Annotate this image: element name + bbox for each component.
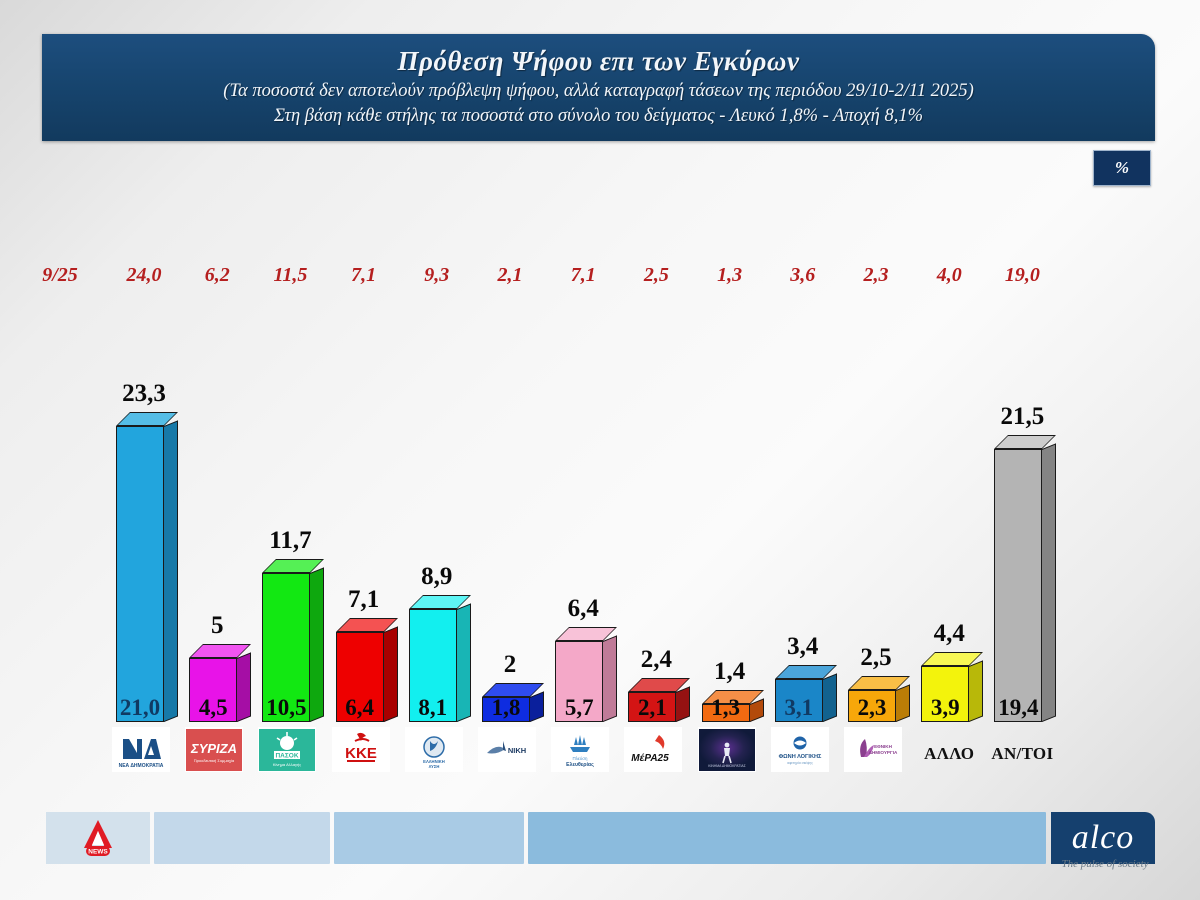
previous-value-elliniki: 9,3 [405,264,469,287]
svg-text:ΔΗΜΙΟΥΡΓΙΑ: ΔΗΜΙΟΥΡΓΙΑ [869,750,898,755]
bar-group-mera25[interactable]: 2,42,1 [620,612,692,722]
bar-side-face-elliniki [457,603,471,722]
bar-front-face-niki [482,697,530,722]
svg-text:ΕΘΝΙΚΗ: ΕΘΝΙΚΗ [874,744,893,749]
bar-front-face-pasok [262,573,310,722]
previous-value-pasok: 11,5 [258,264,322,287]
bar-3d-kke [336,632,384,722]
bar-3d-antoi [994,449,1042,722]
page-title: Πρόθεση Ψήφου επι των Εγκύρων [42,46,1155,77]
bar-front-face-antoi [994,449,1042,722]
bar-3d-niki [482,697,530,722]
bar-top-value-niki: 2 [474,651,546,679]
plefsi-eleftherias-logo-icon: Πλεύση Ελευθερίας [552,729,608,771]
bar-3d-kinima [702,704,750,722]
mera25-logo: ΜέΡΑ25 [624,727,682,772]
bar-front-face-nd [116,426,164,722]
bar-side-face-pasok [310,567,324,722]
percent-badge: % [1093,150,1151,186]
bar-front-face-ethniki [848,690,896,722]
bar-group-kke[interactable]: 7,16,4 [328,552,400,722]
bar-group-kinima[interactable]: 1,41,3 [694,624,766,722]
bar-top-value-antoi: 21,5 [986,403,1058,431]
chart-header: Πρόθεση Ψήφου επι των Εγκύρων (Τα ποσοστ… [42,34,1155,141]
bar-group-foni[interactable]: 3,43,1 [767,599,839,722]
bar-side-face-syriza [237,652,251,722]
bar-side-face-nd [164,420,178,722]
elliniki-lysi-logo-icon: ΕΛΛΗΝΙΚΗ ΛΥΣΗ [406,729,462,771]
foni-logikis-logo-icon: ΦΩΝΗ ΛΟΓΙΚΗΣ αφετηρία σκέψης [772,729,828,771]
previous-value-kke: 7,1 [332,264,396,287]
syriza-logo: ΣΥΡΙΖΑ Προοδευτική Συμμαχία [185,727,243,772]
bar-side-face-allo [969,660,983,722]
bar-top-value-elliniki: 8,9 [401,563,473,591]
svg-text:Ελευθερίας: Ελευθερίας [566,762,594,768]
svg-text:αφετηρία σκέψης: αφετηρία σκέψης [787,761,813,765]
bar-side-face-mera25 [676,686,690,722]
bar-front-face-syriza [189,658,237,722]
bar-3d-mera25 [628,692,676,722]
previous-value-ethniki: 2,3 [844,264,908,287]
previous-value-niki: 2,1 [478,264,542,287]
foni-logikis-logo: ΦΩΝΗ ΛΟΓΙΚΗΣ αφετηρία σκέψης [771,727,829,772]
bar-front-face-plefsi [555,641,603,722]
ethniki-dimiourgia-logo: ΕΘΝΙΚΗ ΔΗΜΙΟΥΡΓΙΑ [844,727,902,772]
bar-3d-plefsi [555,641,603,722]
previous-value-plefsi: 7,1 [551,264,615,287]
bar-top-value-kinima: 1,4 [694,658,766,686]
footer-strip-2 [334,812,524,864]
bar-top-value-mera25: 2,4 [620,646,692,674]
kke-logo-icon: ΚΚΕ [333,729,389,771]
bar-top-value-syriza: 5 [181,612,253,640]
kinima-dimokratias-logo-icon: ΚΙΝΗΜΑ ΔΗΜΟΚΡΑΤΙΑΣ [699,729,755,771]
svg-text:Πλεύση: Πλεύση [573,756,588,761]
bar-chart-plot: 23,321,0 ΝΕΑ ΔΗΜΟΚΡΑΤΙΑ54,5 ΣΥΡΙΖΑ Προοδ… [0,300,1200,780]
bar-group-antoi[interactable]: 21,519,4 [986,369,1058,722]
footer-bar: NEWS alco [0,812,1200,874]
alco-logo: alco [1051,812,1155,864]
bar-top-value-foni: 3,4 [767,633,839,661]
bar-3d-foni [775,679,823,722]
header-subtitle-line2: Στη βάση κάθε στήλης τα ποσοστά στο σύνο… [42,104,1155,129]
svg-text:ΦΩΝΗ ΛΟΓΙΚΗΣ: ΦΩΝΗ ΛΟΓΙΚΗΣ [778,754,821,760]
pasok-logo: ΠΑΣΟΚ Κίνημα Αλλαγής [258,727,316,772]
svg-text:ΝΕΑ ΔΗΜΟΚΡΑΤΙΑ: ΝΕΑ ΔΗΜΟΚΡΑΤΙΑ [119,763,164,769]
poll-chart-slide: Πρόθεση Ψήφου επι των Εγκύρων (Τα ποσοστ… [0,0,1200,900]
previous-poll-date: 9/25 [28,264,92,287]
previous-poll-row: 9/25 24,06,211,57,19,32,17,12,51,33,62,3… [0,264,1200,292]
bar-side-face-antoi [1042,443,1056,722]
alpha-news-icon: NEWS [76,818,120,858]
svg-text:ΚΙΝΗΜΑ ΔΗΜΟΚΡΑΤΙΑΣ: ΚΙΝΗΜΑ ΔΗΜΟΚΡΑΤΙΑΣ [708,764,746,768]
niki-logo: ΝΙΚΗ [478,727,536,772]
bar-front-face-allo [921,666,969,722]
previous-value-allo: 4,0 [917,264,981,287]
mera25-logo-icon: ΜέΡΑ25 [625,729,681,771]
svg-text:ΣΥΡΙΖΑ: ΣΥΡΙΖΑ [190,741,237,756]
bar-front-face-kinima [702,704,750,722]
svg-text:ΚΚΕ: ΚΚΕ [345,745,377,762]
previous-value-mera25: 2,5 [624,264,688,287]
bar-top-value-pasok: 11,7 [254,527,326,555]
bar-top-value-ethniki: 2,5 [840,644,912,672]
previous-value-foni: 3,6 [771,264,835,287]
bar-3d-pasok [262,573,310,722]
pasok-logo-icon: ΠΑΣΟΚ Κίνημα Αλλαγής [259,729,315,771]
svg-text:ΠΑΣΟΚ: ΠΑΣΟΚ [276,752,299,759]
bar-front-face-kke [336,632,384,722]
kke-logo: ΚΚΕ [332,727,390,772]
bar-group-syriza[interactable]: 54,5 [181,578,253,722]
svg-text:ΝΙΚΗ: ΝΙΚΗ [508,746,526,755]
bar-side-face-plefsi [603,635,617,722]
bar-group-ethniki[interactable]: 2,52,3 [840,610,912,722]
previous-value-kinima: 1,3 [698,264,762,287]
bar-group-plefsi[interactable]: 6,45,7 [547,561,619,722]
svg-text:Κίνημα Αλλαγής: Κίνημα Αλλαγής [273,762,301,767]
previous-value-antoi: 19,0 [990,264,1054,287]
bar-3d-syriza [189,658,237,722]
syriza-logo-icon: ΣΥΡΙΖΑ Προοδευτική Συμμαχία [186,729,242,771]
niki-logo-icon: ΝΙΚΗ [479,729,535,771]
bar-3d-elliniki [409,609,457,722]
axis-label-antoi: ΑΝ/ΤΟΙ [980,744,1064,764]
bar-top-value-plefsi: 6,4 [547,595,619,623]
bar-group-elliniki[interactable]: 8,98,1 [401,529,473,722]
nd-logo: ΝΕΑ ΔΗΜΟΚΡΑΤΙΑ [112,727,170,772]
bar-group-pasok[interactable]: 11,710,5 [254,493,326,722]
bar-group-nd[interactable]: 23,321,0 [108,346,180,722]
bar-3d-nd [116,426,164,722]
plefsi-eleftherias-logo: Πλεύση Ελευθερίας [551,727,609,772]
svg-text:NEWS: NEWS [88,849,108,856]
nd-logo-icon: ΝΕΑ ΔΗΜΟΚΡΑΤΙΑ [113,729,169,771]
bar-group-niki[interactable]: 21,8 [474,617,546,722]
svg-text:Προοδευτική Συμμαχία: Προοδευτική Συμμαχία [194,758,235,763]
footer-strip-3 [528,812,1046,864]
alco-tagline: The pulse of society [1040,858,1170,870]
bar-top-value-allo: 4,4 [913,620,985,648]
alco-wordmark: alco [1072,821,1135,855]
bar-front-face-mera25 [628,692,676,722]
previous-value-syriza: 6,2 [185,264,249,287]
svg-text:ΜέΡΑ25: ΜέΡΑ25 [632,753,670,764]
bar-front-face-elliniki [409,609,457,722]
axis-label-allo: ΑΛΛΟ [907,744,991,764]
bar-3d-allo [921,666,969,722]
ethniki-dimiourgia-logo-icon: ΕΘΝΙΚΗ ΔΗΜΙΟΥΡΓΙΑ [845,729,901,771]
bar-side-face-kke [384,626,398,722]
bar-top-value-kke: 7,1 [328,586,400,614]
bar-side-face-ethniki [896,684,910,722]
bar-3d-ethniki [848,690,896,722]
alpha-news-logo: NEWS [46,812,150,864]
bar-top-value-nd: 23,3 [108,380,180,408]
bar-side-face-niki [530,691,544,722]
previous-value-nd: 24,0 [112,264,176,287]
footer-strip-1 [154,812,330,864]
header-subtitle-line1: (Τα ποσοστά δεν αποτελούν πρόβλεψη ψήφου… [42,79,1155,104]
bar-group-allo[interactable]: 4,43,9 [913,586,985,722]
bar-front-face-foni [775,679,823,722]
svg-text:ΛΥΣΗ: ΛΥΣΗ [428,764,439,769]
kinima-dimokratias-logo: ΚΙΝΗΜΑ ΔΗΜΟΚΡΑΤΙΑΣ [698,727,756,772]
bar-side-face-foni [823,673,837,722]
elliniki-lysi-logo: ΕΛΛΗΝΙΚΗ ΛΥΣΗ [405,727,463,772]
